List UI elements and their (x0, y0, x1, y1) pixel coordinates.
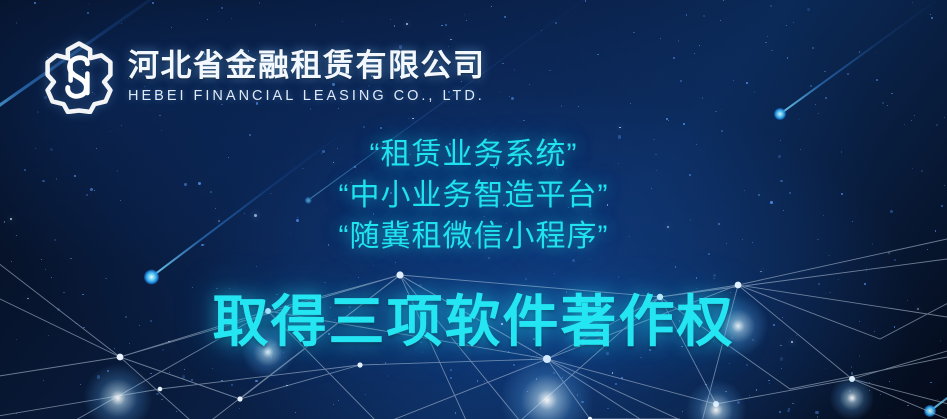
company-name-en: HEBEI FINANCIAL LEASING CO., LTD. (128, 88, 486, 105)
subtitle-line-1: “租赁业务系统” (0, 134, 947, 175)
headline-block: “租赁业务系统” “中小业务智造平台” “随冀租微信小程序” 取得三项软件著作权 (0, 134, 947, 358)
promo-banner: 河北省金融租赁有限公司 HEBEI FINANCIAL LEASING CO.,… (0, 0, 947, 419)
logo-lockup: 河北省金融租赁有限公司 HEBEI FINANCIAL LEASING CO.,… (44, 40, 486, 114)
subtitle-line-2: “中小业务智造平台” (0, 175, 947, 216)
main-headline: 取得三项软件著作权 (0, 277, 947, 358)
hexagonal-monogram-icon (44, 40, 114, 114)
subtitle-line-3: “随冀租微信小程序” (0, 216, 947, 257)
company-name-cn: 河北省金融租赁有限公司 (128, 49, 486, 84)
